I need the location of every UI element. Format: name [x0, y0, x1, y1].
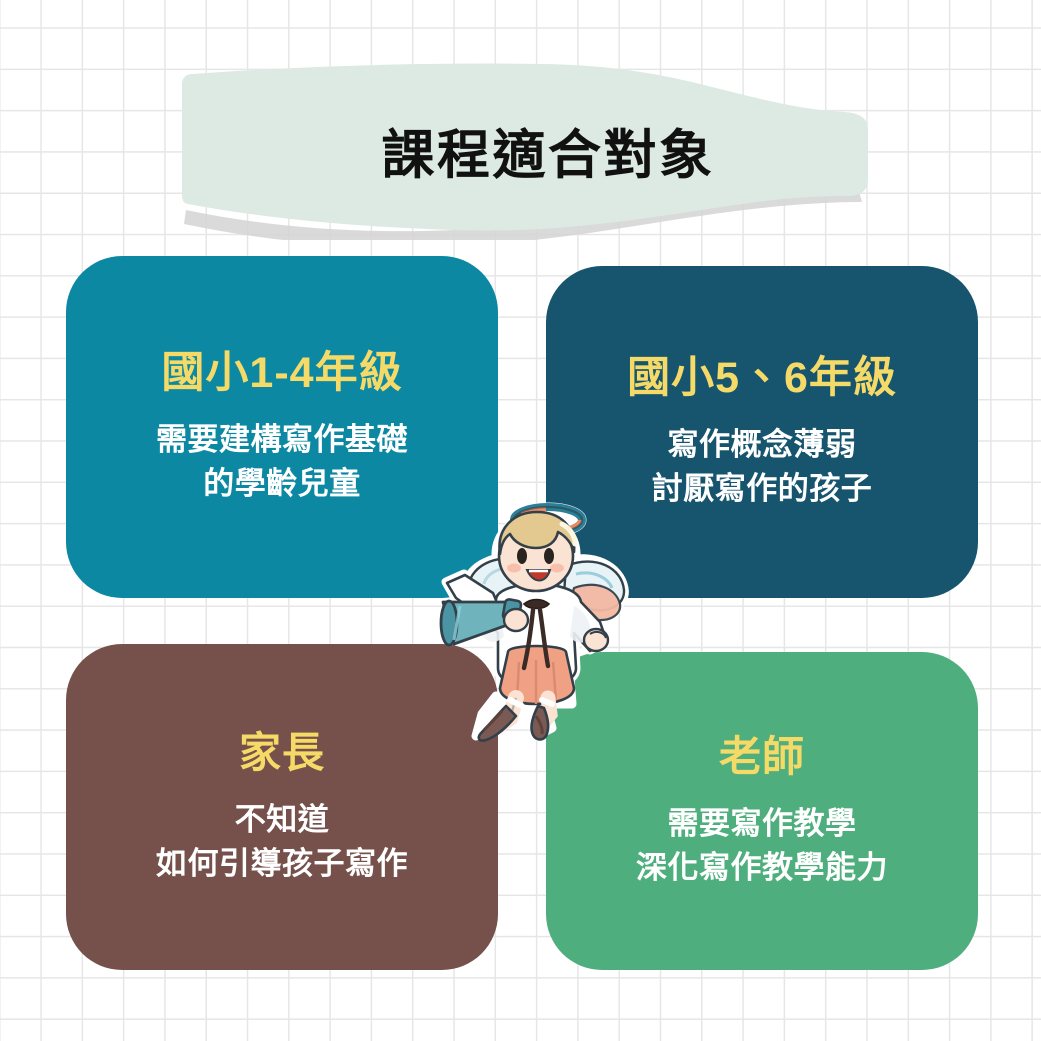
audience-card-parents[interactable]: 家長 不知道 如何引導孩子寫作 [66, 644, 498, 970]
header-banner: 課程適合對象 [182, 52, 872, 240]
page-title: 課程適合對象 [182, 52, 872, 240]
card-body: 寫作概念薄弱 討厭寫作的孩子 [652, 423, 873, 511]
card-title: 國小5、6年級 [627, 353, 897, 405]
card-title: 家長 [239, 728, 325, 778]
poster-canvas: 課程適合對象 國小1-4年級 需要建構寫作基礎 的學齡兒童 國小5、6年級 寫作… [0, 0, 1041, 1041]
card-body: 需要寫作教學 深化寫作教學能力 [636, 802, 888, 890]
card-body: 需要建構寫作基礎 的學齡兒童 [156, 418, 408, 506]
audience-card-elementary-1-4[interactable]: 國小1-4年級 需要建構寫作基礎 的學齡兒童 [66, 256, 498, 598]
card-title: 老師 [719, 732, 805, 782]
card-title: 國小1-4年級 [161, 348, 402, 400]
audience-card-elementary-5-6[interactable]: 國小5、6年級 寫作概念薄弱 討厭寫作的孩子 [546, 266, 978, 598]
audience-card-teachers[interactable]: 老師 需要寫作教學 深化寫作教學能力 [546, 652, 978, 970]
card-body: 不知道 如何引導孩子寫作 [156, 798, 408, 886]
